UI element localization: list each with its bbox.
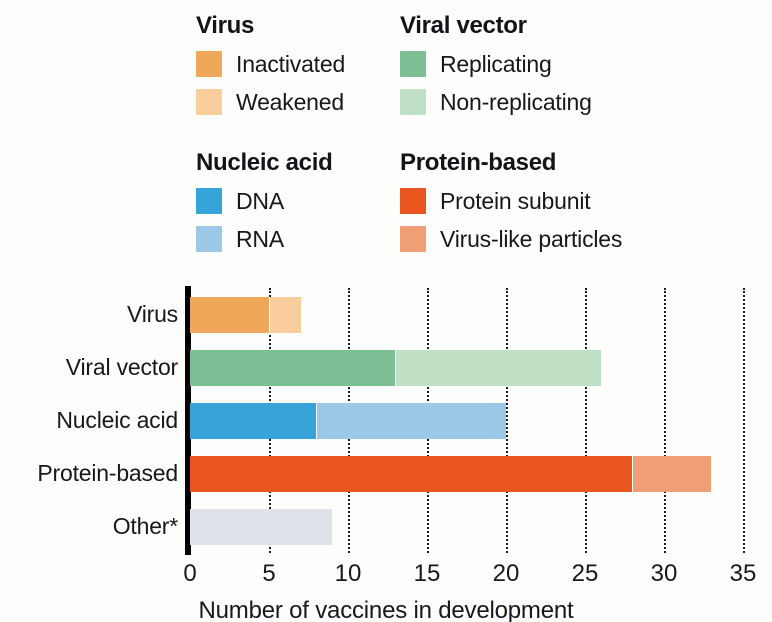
gridline <box>506 288 508 553</box>
legend-label-inactivated: Inactivated <box>236 51 345 78</box>
stacked-bar-chart: VirusViral vectorNucleic acidProtein-bas… <box>0 272 772 622</box>
legend-swatch-inactivated <box>196 51 222 77</box>
y-axis-label: Virus <box>3 301 178 328</box>
bar-segment <box>632 456 711 492</box>
legend-item-rna: RNA <box>196 220 332 258</box>
x-tick-label: 5 <box>262 560 275 588</box>
bar-protein-based <box>190 456 711 492</box>
legend-group-viral-vector: Viral vector Replicating Non-replicating <box>400 12 592 121</box>
legend-swatch-dna <box>196 188 222 214</box>
y-axis-label: Nucleic acid <box>3 407 178 434</box>
legend-group-nucleic-acid: Nucleic acid DNA RNA <box>196 149 332 258</box>
gridline <box>664 288 666 553</box>
y-axis-label: Protein-based <box>3 460 178 487</box>
x-tick-label: 10 <box>335 560 362 588</box>
x-tick-label: 30 <box>651 560 678 588</box>
legend-swatch-replicating <box>400 51 426 77</box>
legend-item-protein-subunit: Protein subunit <box>400 182 622 220</box>
bar-segment <box>190 403 316 439</box>
legend-group-title: Virus <box>196 12 345 40</box>
legend-item-weakened: Weakened <box>196 83 345 121</box>
y-axis-label: Viral vector <box>3 354 178 381</box>
legend-label-weakened: Weakened <box>236 89 344 116</box>
bar-segment <box>190 297 269 333</box>
x-axis-title: Number of vaccines in development <box>0 597 772 622</box>
x-axis-tick-labels: 05101520253035 <box>190 560 743 592</box>
legend-swatch-rna <box>196 226 222 252</box>
bar-segment <box>190 456 632 492</box>
y-axis-category-labels: VirusViral vectorNucleic acidProtein-bas… <box>0 288 178 553</box>
legend-group-title: Viral vector <box>400 12 592 40</box>
legend-group-title: Protein-based <box>400 149 622 177</box>
bar-segment <box>190 509 332 545</box>
legend-swatch-protein-subunit <box>400 188 426 214</box>
bar-segment <box>316 403 506 439</box>
bar-other <box>190 509 332 545</box>
legend-label-non-replicating: Non-replicating <box>440 89 592 116</box>
x-tick-label: 15 <box>414 560 441 588</box>
legend-group-protein-based: Protein-based Protein subunit Virus-like… <box>400 149 622 258</box>
bar-nucleic-acid <box>190 403 506 439</box>
legend-item-dna: DNA <box>196 182 332 220</box>
bar-segment <box>190 350 395 386</box>
legend-label-rna: RNA <box>236 226 284 253</box>
legend-swatch-weakened <box>196 89 222 115</box>
legend-group-virus: Virus Inactivated Weakened <box>196 12 345 121</box>
x-tick-label: 35 <box>730 560 757 588</box>
legend-label-protein-subunit: Protein subunit <box>440 188 590 215</box>
legend-swatch-virus-like-particles <box>400 226 426 252</box>
legend-item-non-replicating: Non-replicating <box>400 83 592 121</box>
chart-legend: Virus Inactivated Weakened Viral vector … <box>0 0 772 272</box>
y-axis-label: Other* <box>3 513 178 540</box>
legend-swatch-non-replicating <box>400 89 426 115</box>
x-tick-label: 20 <box>493 560 520 588</box>
x-tick-label: 25 <box>572 560 599 588</box>
x-tick-label: 0 <box>183 560 196 588</box>
bar-segment <box>269 297 301 333</box>
gridline <box>743 288 745 553</box>
legend-item-virus-like-particles: Virus-like particles <box>400 220 622 258</box>
bar-viral-vector <box>190 350 601 386</box>
legend-group-title: Nucleic acid <box>196 149 332 177</box>
legend-item-inactivated: Inactivated <box>196 45 345 83</box>
bar-segment <box>395 350 600 386</box>
legend-label-dna: DNA <box>236 188 284 215</box>
bar-virus <box>190 297 301 333</box>
legend-label-replicating: Replicating <box>440 51 552 78</box>
plot-area <box>190 288 743 553</box>
legend-label-virus-like-particles: Virus-like particles <box>440 226 622 253</box>
legend-item-replicating: Replicating <box>400 45 592 83</box>
gridline <box>585 288 587 553</box>
vaccine-chart-figure: Virus Inactivated Weakened Viral vector … <box>0 0 772 622</box>
